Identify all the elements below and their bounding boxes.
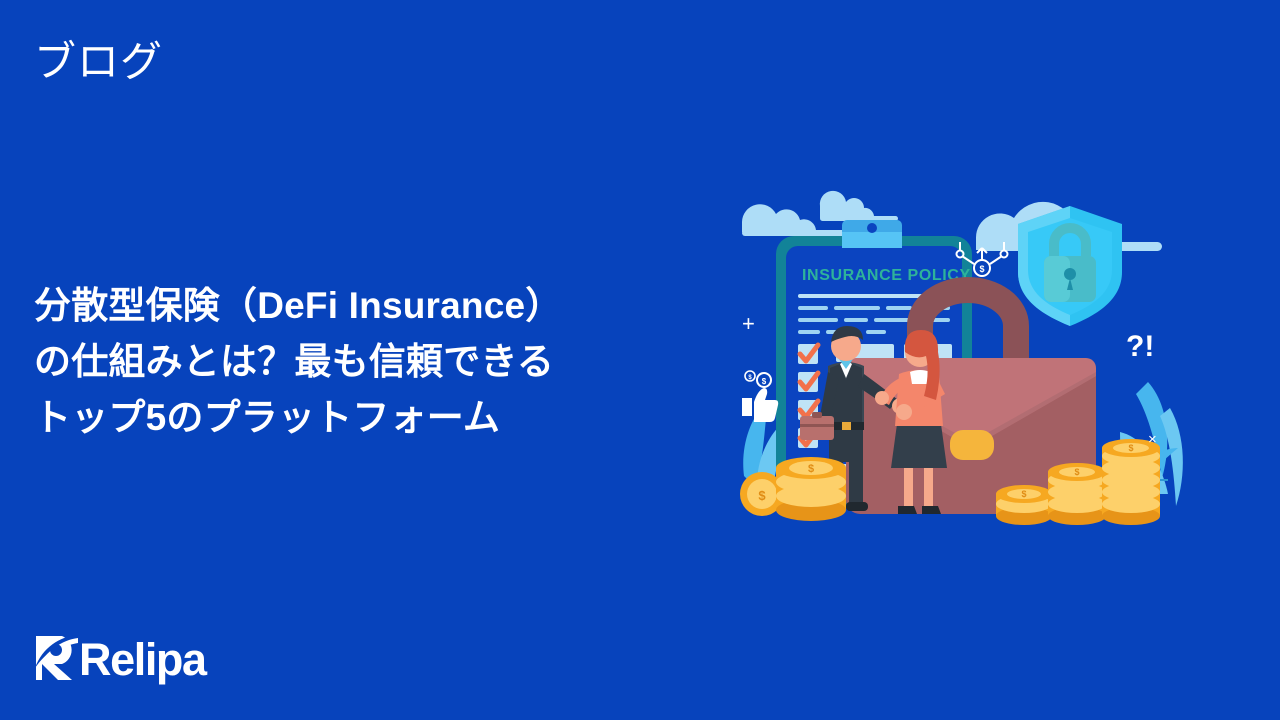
page-title: 分散型保険（DeFi Insurance） の仕組みとは？最も信頼できる トップ… bbox=[34, 278, 714, 447]
svg-text:$: $ bbox=[1128, 443, 1133, 453]
svg-text:$: $ bbox=[1074, 467, 1079, 477]
thumbs-up-coin-icon: $ $ bbox=[742, 371, 778, 422]
shield-lock-icon bbox=[1018, 206, 1122, 328]
page-category-label: ブログ bbox=[34, 38, 163, 86]
plus-mark: + bbox=[742, 311, 755, 336]
svg-text:$: $ bbox=[758, 488, 766, 503]
question-exclamation-mark: ?! bbox=[1126, 330, 1154, 363]
page-title-line-3: トップ5のプラットフォーム bbox=[34, 390, 714, 446]
svg-text:$: $ bbox=[1021, 489, 1026, 499]
svg-text:$: $ bbox=[762, 377, 767, 386]
page-title-line-1: 分散型保険（DeFi Insurance） bbox=[34, 278, 714, 334]
svg-text:$: $ bbox=[979, 264, 984, 274]
relipa-logo[interactable]: Relipa bbox=[32, 632, 206, 684]
relipa-logo-text: Relipa bbox=[79, 637, 206, 682]
blog-banner: ブログ 分散型保険（DeFi Insurance） の仕組みとは？最も信頼できる… bbox=[0, 0, 1280, 720]
svg-text:$: $ bbox=[808, 463, 814, 475]
relipa-logo-mark-icon bbox=[32, 634, 82, 682]
hero-illustration: INSURANCE POLICY bbox=[724, 176, 1192, 544]
cross-mark: × bbox=[1148, 431, 1157, 448]
page-title-line-2: の仕組みとは？最も信頼できる bbox=[34, 334, 714, 390]
